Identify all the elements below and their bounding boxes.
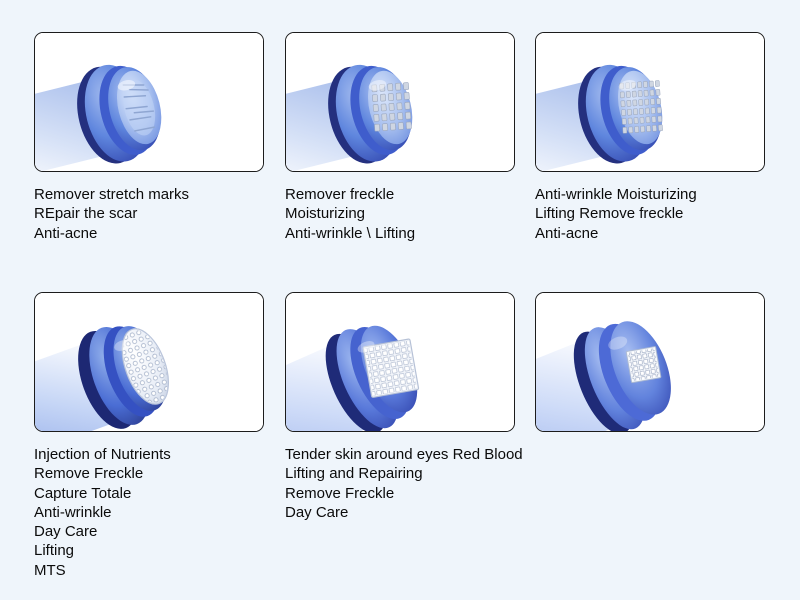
cartridge-caption: Remover stretch marks REpair the scar An…	[34, 185, 264, 243]
caption-line: Remove Freckle	[285, 484, 515, 503]
cartridge-photo-round-nano-disc	[34, 292, 264, 432]
cartridge-card-freckle: Remover freckle Moisturizing Anti-wrinkl…	[285, 32, 515, 243]
caption-line: Tender skin around eyes Red Blood	[285, 445, 515, 464]
caption-line: Anti-wrinkle \ Lifting	[285, 224, 515, 243]
caption-line: Day Care	[285, 503, 515, 522]
caption-line: Anti-acne	[34, 224, 264, 243]
cartridge-photo-small-square-nano-plate	[535, 292, 765, 432]
caption-line: Anti-wrinkle Moisturizing	[535, 185, 765, 204]
caption-line: Capture Totale	[34, 484, 264, 503]
caption-line: REpair the scar	[34, 204, 264, 223]
cartridge-caption: Anti-wrinkle Moisturizing Lifting Remove…	[535, 185, 765, 243]
cartridge-caption: Injection of Nutrients Remove Freckle Ca…	[34, 445, 264, 580]
cartridge-photo-square-nano-plate	[285, 292, 515, 432]
caption-line: Day Care	[34, 522, 264, 541]
cartridge-card-nano-round: Injection of Nutrients Remove Freckle Ca…	[34, 292, 264, 580]
cartridge-caption: Remover freckle Moisturizing Anti-wrinkl…	[285, 185, 515, 243]
caption-line: Moisturizing	[285, 204, 515, 223]
cartridge-photo-25-needle-array	[285, 32, 515, 172]
caption-line: Remove Freckle	[34, 464, 264, 483]
cartridge-grid: Remover stretch marks REpair the scar An…	[0, 0, 800, 600]
cartridge-photo-42-needle-array	[535, 32, 765, 172]
caption-line: Lifting Remove freckle	[535, 204, 765, 223]
caption-line: Anti-acne	[535, 224, 765, 243]
caption-line: Lifting and Repairing	[285, 464, 515, 483]
cartridge-card-nano-square-small	[535, 292, 765, 432]
cartridge-photo-slanted-needle-rows	[34, 32, 264, 172]
caption-line: Injection of Nutrients	[34, 445, 264, 464]
caption-line: MTS	[34, 561, 264, 580]
caption-line: Remover freckle	[285, 185, 515, 204]
caption-line: Lifting	[34, 541, 264, 560]
caption-line: Remover stretch marks	[34, 185, 264, 204]
cartridge-card-stretch-marks: Remover stretch marks REpair the scar An…	[34, 32, 264, 243]
cartridge-card-nano-square-large: Tender skin around eyes Red Blood Liftin…	[285, 292, 515, 522]
cartridge-card-anti-wrinkle: Anti-wrinkle Moisturizing Lifting Remove…	[535, 32, 765, 243]
cartridge-caption: Tender skin around eyes Red Blood Liftin…	[285, 445, 515, 522]
caption-line: Anti-wrinkle	[34, 503, 264, 522]
